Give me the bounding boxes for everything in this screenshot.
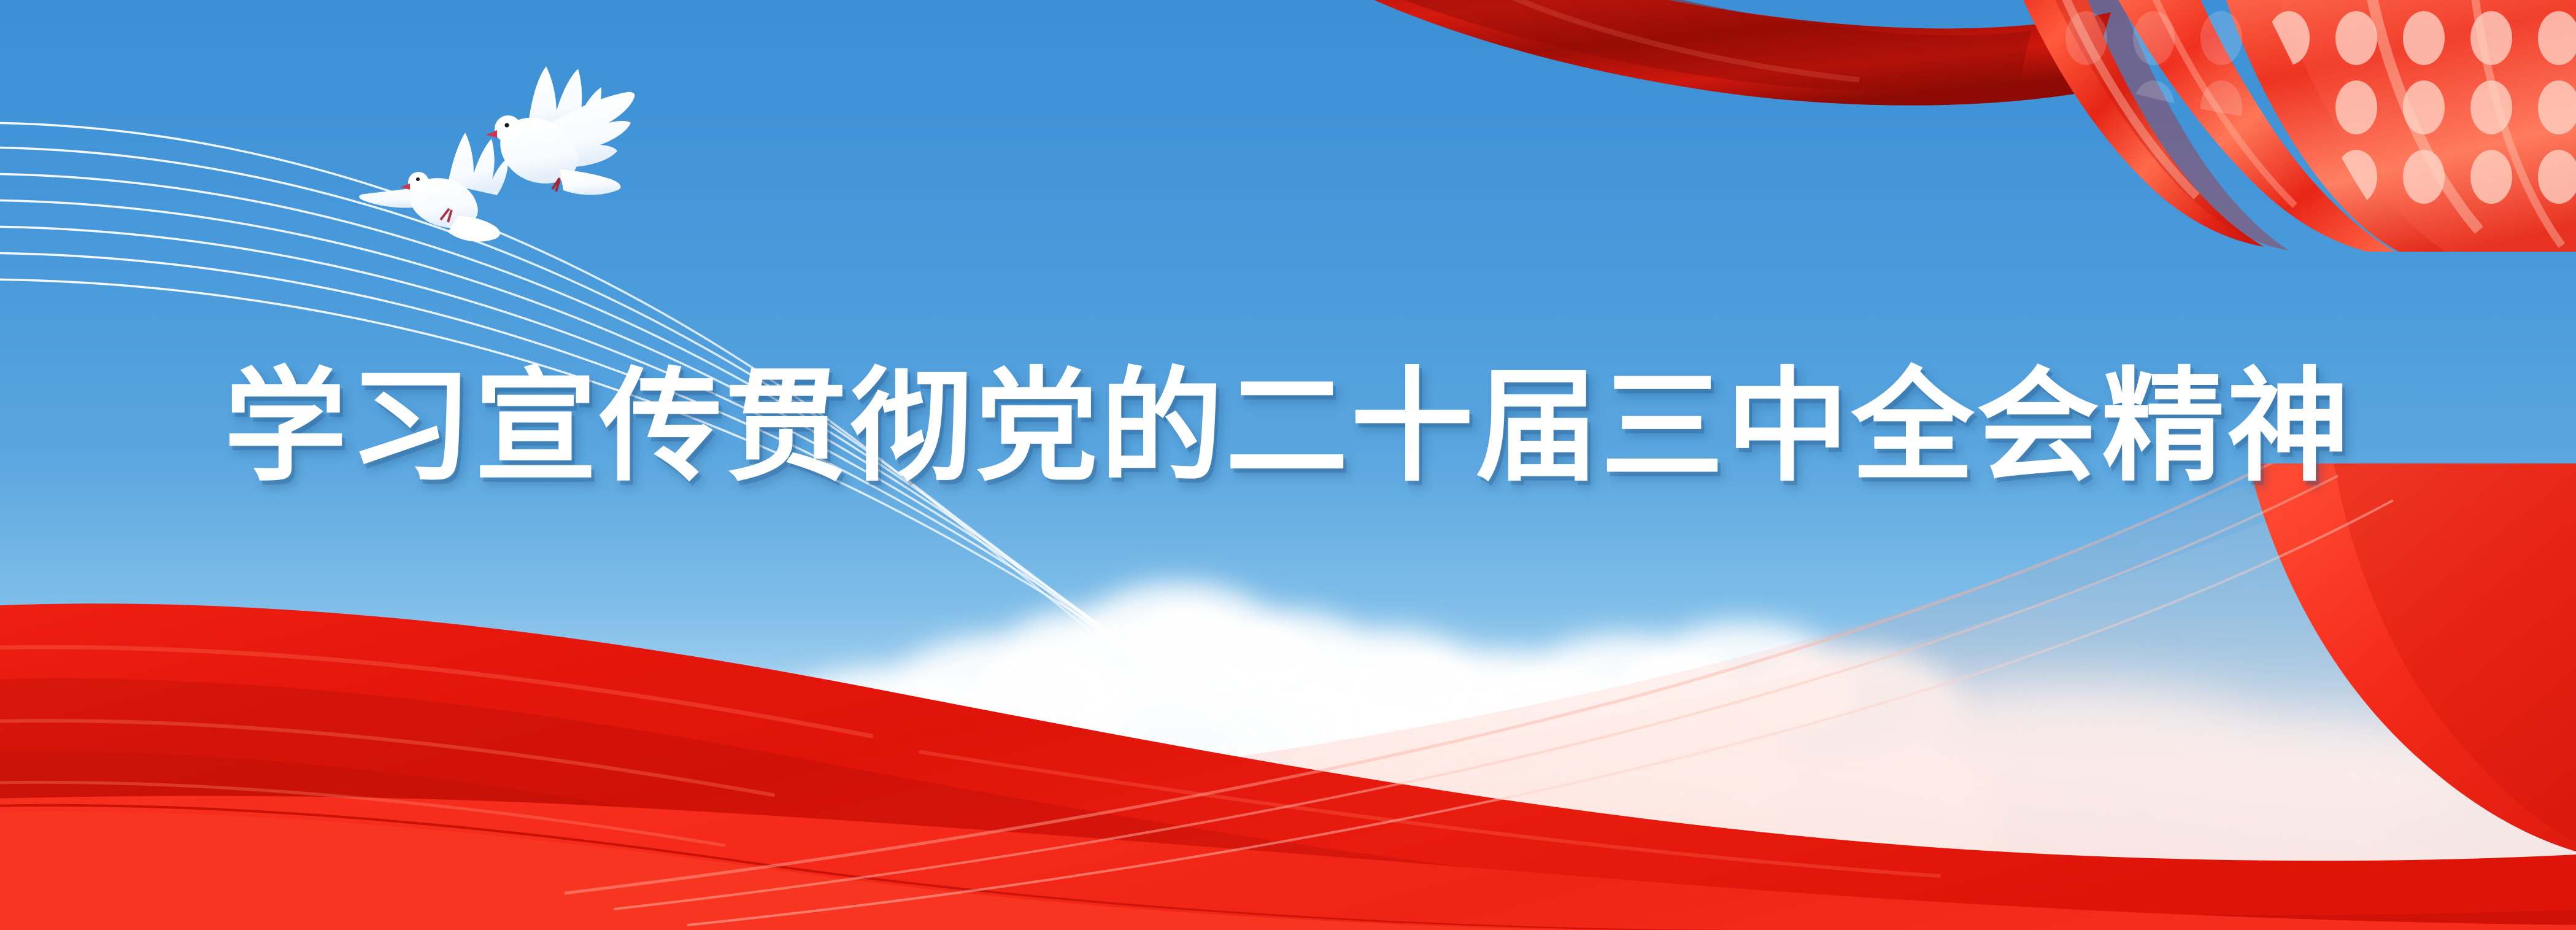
peace-doves — [344, 43, 663, 270]
dove-small — [359, 133, 508, 242]
red-silk-ribbon — [1289, 0, 2576, 252]
beak — [486, 130, 497, 138]
beak — [401, 184, 410, 190]
banner-root: 学习宣传贯彻党的二十届三中全会精神 — [0, 0, 2576, 930]
eye — [416, 177, 420, 181]
red-silk-waves — [0, 463, 2576, 930]
dove-large — [486, 66, 634, 195]
eye — [504, 123, 509, 127]
